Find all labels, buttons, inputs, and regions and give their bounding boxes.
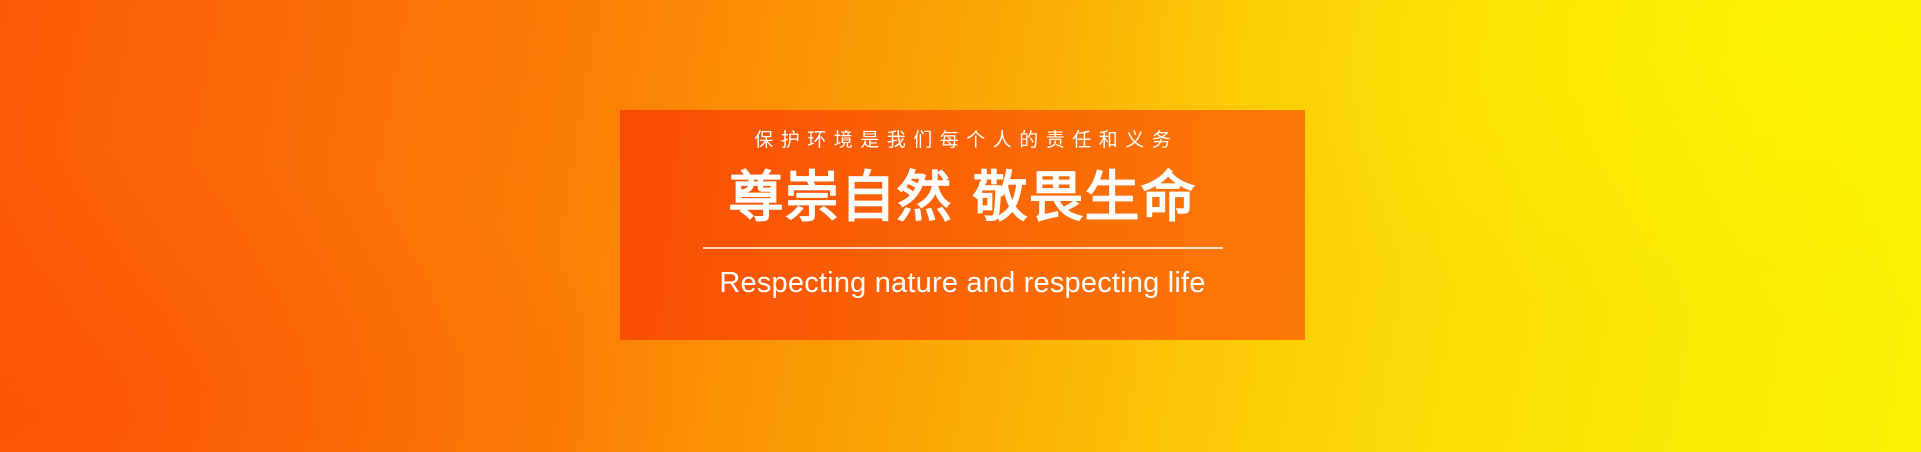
panel-divider	[703, 247, 1223, 249]
panel-tagline: 保护环境是我们每个人的责任和义务	[747, 131, 1179, 150]
headline-phrase-1: 尊崇自然	[728, 166, 952, 228]
environmental-slogan-banner: 保护环境是我们每个人的责任和义务 尊崇自然敬畏生命 Respecting nat…	[0, 0, 1921, 452]
slogan-panel: 保护环境是我们每个人的责任和义务 尊崇自然敬畏生命 Respecting nat…	[620, 110, 1305, 340]
headline-phrase-2: 敬畏生命	[973, 166, 1197, 228]
panel-headline: 尊崇自然敬畏生命	[728, 170, 1196, 225]
panel-subtitle: Respecting nature and respecting life	[719, 269, 1205, 298]
